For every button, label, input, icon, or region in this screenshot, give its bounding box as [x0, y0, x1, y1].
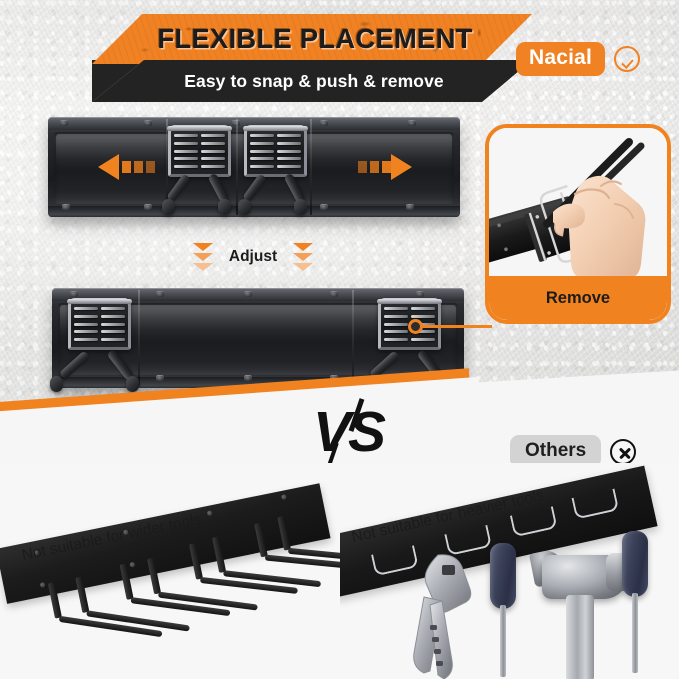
screw-icon [144, 120, 152, 126]
screw-icon [244, 375, 252, 381]
screwdriver-shaft [632, 593, 638, 673]
bracket-frame [168, 125, 231, 177]
comparison-panel-wider-tools: Not suitable for wider tools [0, 463, 340, 679]
bracket-top-bar [377, 299, 442, 304]
hook-bracket[interactable] [244, 125, 307, 209]
remove-demo-photo [489, 128, 667, 280]
callout-connector-line [416, 325, 492, 328]
bracket-slats [250, 132, 301, 170]
adjust-indicator: Adjust [193, 240, 313, 274]
chevron-double-down-icon [293, 243, 313, 271]
arrow-right-icon [355, 154, 412, 180]
rail-seam [236, 119, 238, 215]
screwdriver-handle [622, 531, 648, 597]
bracket-slats [174, 132, 225, 170]
remove-label: Remove [489, 276, 667, 320]
x-circle-icon [610, 439, 636, 465]
rail-seam [352, 290, 354, 386]
callout-marker-icon [408, 319, 423, 334]
adjust-label: Adjust [229, 248, 277, 266]
product-feature-section: FLEXIBLE PLACEMENT Easy to snap & push &… [0, 0, 679, 463]
hook-bracket[interactable] [68, 298, 131, 382]
comparison-section: Not suitable for wider tools [0, 463, 679, 679]
screw-icon [144, 204, 152, 210]
screw-icon [62, 204, 70, 210]
screw-icon [70, 291, 78, 297]
rail-seam [138, 290, 140, 386]
hand-removing-hook-illustration [489, 128, 667, 280]
screw-icon [156, 375, 164, 381]
screw-icon [60, 120, 68, 126]
hammer-handle [566, 595, 594, 679]
screw-icon [416, 291, 424, 297]
screw-icon [281, 494, 287, 500]
screw-icon [244, 291, 252, 297]
page-subtitle: Easy to snap & push & remove [92, 60, 532, 102]
screw-icon [320, 204, 328, 210]
hook-bracket[interactable] [378, 298, 441, 382]
header-banner: FLEXIBLE PLACEMENT Easy to snap & push &… [92, 14, 532, 102]
bracket-frame [68, 298, 131, 350]
arrow-left-icon [98, 154, 155, 180]
brand-name-label: Nacial [516, 42, 605, 76]
pliers-tool [398, 551, 488, 675]
bracket-top-bar [243, 126, 308, 131]
comparison-panel-heavier-tools: Not suitable for heavier tools [340, 463, 679, 679]
page-title: FLEXIBLE PLACEMENT [92, 14, 532, 64]
screw-icon [156, 291, 164, 297]
rail-seam [310, 119, 312, 215]
bracket-frame [244, 125, 307, 177]
screw-icon [406, 204, 414, 210]
screw-icon [40, 582, 46, 588]
versus-label: VS [313, 404, 383, 461]
bracket-top-bar [167, 126, 232, 131]
bracket-slats [74, 305, 125, 343]
screwdriver-handle [490, 543, 516, 609]
screwdriver-shaft [500, 605, 506, 677]
chevron-double-down-icon [193, 243, 213, 271]
brand-badge: Nacial [516, 42, 640, 76]
check-circle-icon [614, 46, 640, 72]
competitor-rack-thin-prongs [0, 483, 340, 666]
screw-icon [330, 291, 338, 297]
product-rail-top [48, 117, 460, 217]
remove-demo-panel: Remove [485, 124, 671, 324]
screw-icon [207, 510, 213, 516]
hook-bracket[interactable] [168, 125, 231, 209]
bracket-top-bar [67, 299, 132, 304]
screw-icon [408, 120, 416, 126]
screw-icon [320, 120, 328, 126]
screw-icon [129, 562, 135, 568]
